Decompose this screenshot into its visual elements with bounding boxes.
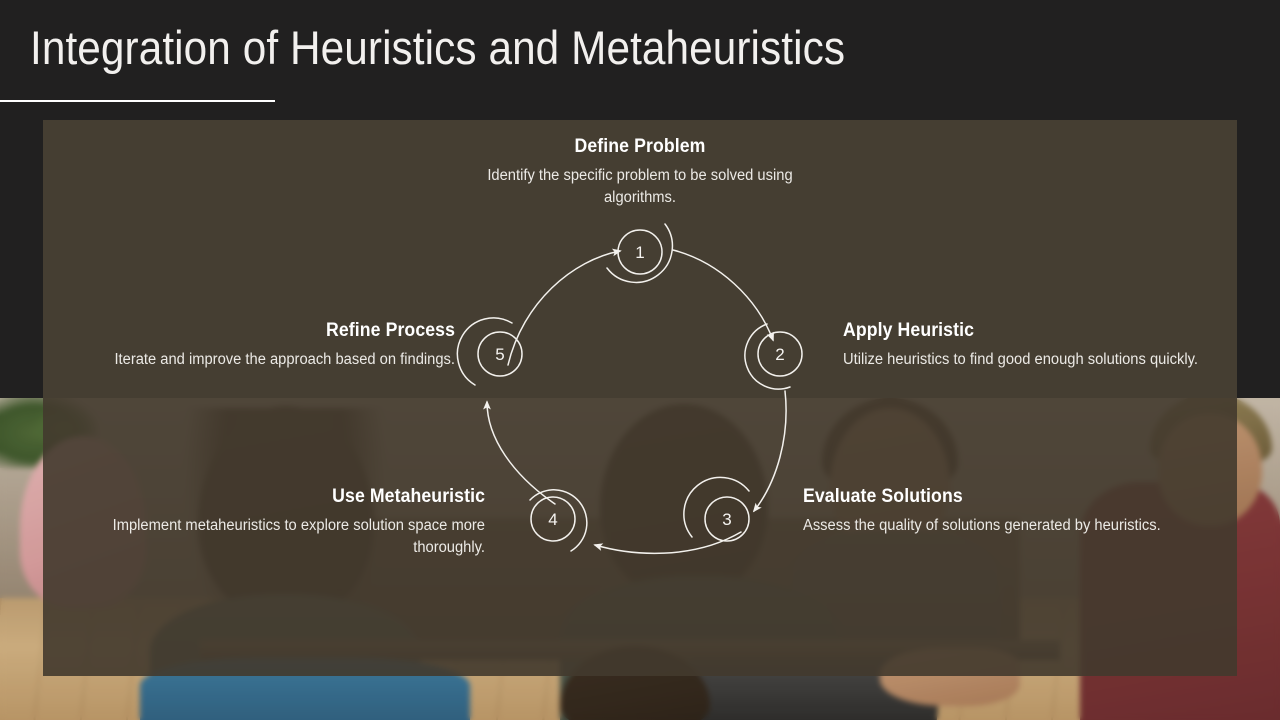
node-3-number: 3 (722, 510, 731, 529)
arrow-1-to-2 (673, 250, 773, 340)
step-description-apply-heuristic: Utilize heuristics to find good enough s… (843, 349, 1214, 371)
title-underline (0, 100, 275, 102)
arrow-3-to-4 (595, 532, 741, 553)
step-title-apply-heuristic: Apply Heuristic (843, 320, 1206, 342)
step-text-use-metaheuristic: Use Metaheuristic Implement metaheuristi… (83, 486, 485, 559)
node-2-number: 2 (775, 345, 784, 364)
step-title-evaluate-solutions: Evaluate Solutions (803, 486, 1175, 508)
node-1-number: 1 (635, 243, 644, 262)
slide-canvas: Integration of Heuristics and Metaheuris… (0, 0, 1280, 720)
step-title-use-metaheuristic: Use Metaheuristic (111, 486, 485, 508)
node-3-outer-arc (684, 477, 749, 537)
arrow-4-to-5 (487, 402, 555, 504)
step-title-define-problem: Define Problem (454, 136, 826, 158)
node-5-number: 5 (495, 345, 504, 364)
step-title-refine-process: Refine Process (118, 320, 455, 342)
step-description-refine-process: Iterate and improve the approach based o… (111, 349, 455, 371)
step-text-define-problem: Define Problem Identify the specific pro… (440, 136, 840, 209)
page-title: Integration of Heuristics and Metaheuris… (30, 22, 845, 75)
cycle-node-1[interactable]: 1 (607, 224, 672, 282)
step-text-evaluate-solutions: Evaluate Solutions Assess the quality of… (803, 486, 1203, 537)
cycle-node-4[interactable]: 4 (530, 490, 587, 551)
node-4-outer-arc (530, 490, 587, 551)
step-description-use-metaheuristic: Implement metaheuristics to explore solu… (103, 515, 485, 559)
step-description-evaluate-solutions: Assess the quality of solutions generate… (803, 515, 1183, 537)
header-bar: Integration of Heuristics and Metaheuris… (0, 0, 1280, 105)
cycle-node-2[interactable]: 2 (745, 324, 802, 389)
step-description-define-problem: Identify the specific problem to be solv… (450, 165, 830, 209)
node-4-number: 4 (548, 510, 557, 529)
step-text-apply-heuristic: Apply Heuristic Utilize heuristics to fi… (843, 320, 1233, 371)
arrow-2-to-3 (754, 391, 786, 511)
step-text-refine-process: Refine Process Iterate and improve the a… (93, 320, 455, 371)
cycle-node-3[interactable]: 3 (684, 477, 749, 541)
arrow-5-to-1 (508, 251, 620, 365)
